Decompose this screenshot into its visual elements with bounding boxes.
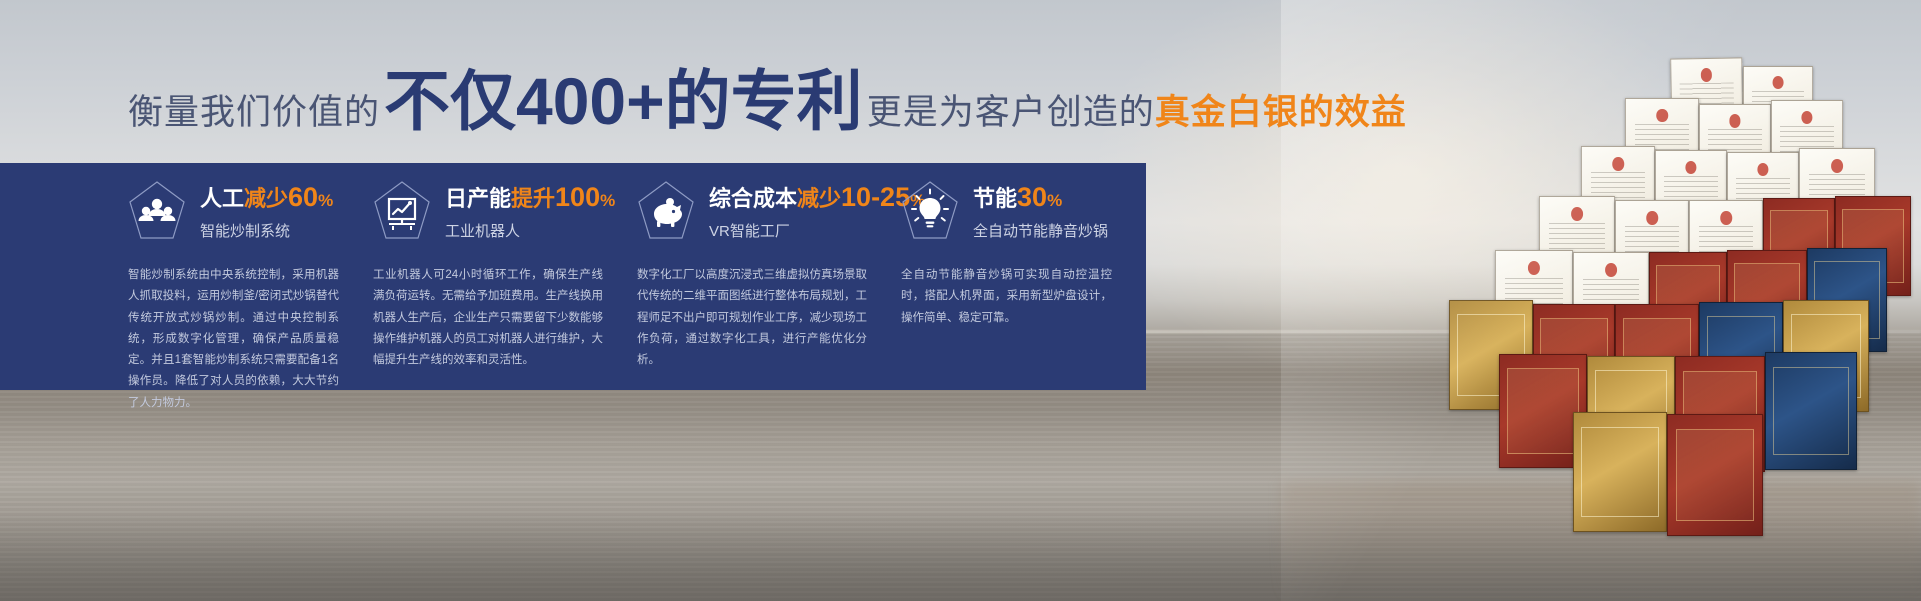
feature-item-energy[interactable]: 节能30% 全自动节能静音炒锅 全自动节能静音炒锅可实现自动控温控时，搭配人机界… [901, 163, 1146, 390]
feature-header: 综合成本减少10-25% VR智能工厂 [637, 163, 877, 259]
feature-title-block: 日产能提升100% 工业机器人 [445, 181, 615, 241]
lightbulb-icon [901, 180, 959, 242]
feature-title: 综合成本减少10-25% [709, 183, 925, 213]
feature-subtitle: VR智能工厂 [709, 220, 925, 241]
feature-description: 全自动节能静音炒锅可实现自动控温控时，搭配人机界面，采用新型炉盘设计，操作简单、… [901, 259, 1122, 329]
feature-panel: 人工减少60% 智能炒制系统 智能炒制系统由中央系统控制，采用机器人抓取投料，运… [0, 163, 1146, 390]
feature-subtitle: 工业机器人 [445, 220, 615, 241]
headline-lead: 衡量我们价值的 [128, 84, 380, 135]
feature-description: 数字化工厂以高度沉浸式三维虚拟仿真场景取代传统的二维平面图纸进行整体布局规划，工… [637, 259, 877, 371]
headline-tail: 更是为客户创造的 [867, 84, 1155, 135]
piggy-bank-icon [637, 180, 695, 242]
chart-board-icon [373, 180, 431, 242]
headline-emphasis: 不仅400+的专利 [380, 68, 867, 134]
feature-title-plain: 人工 [200, 186, 244, 211]
headline-accent: 真金白银的效益 [1155, 84, 1407, 135]
page-title: 衡量我们价值的 不仅400+的专利 更是为客户创造的 真金白银的效益 [128, 68, 1407, 135]
feature-title-block: 综合成本减少10-25% VR智能工厂 [709, 181, 925, 241]
feature-subtitle: 全自动节能静音炒锅 [973, 220, 1108, 241]
award-plaque-item [1765, 352, 1857, 470]
award-plaque-item [1573, 412, 1667, 532]
feature-header: 节能30% 全自动节能静音炒锅 [901, 163, 1122, 259]
feature-header: 人工减少60% 智能炒制系统 [128, 163, 349, 259]
feature-list: 人工减少60% 智能炒制系统 智能炒制系统由中央系统控制，采用机器人抓取投料，运… [128, 163, 1146, 390]
feature-title-plain: 日产能 [445, 186, 511, 211]
feature-title-percent: % [1047, 191, 1062, 210]
feature-title-block: 节能30% 全自动节能静音炒锅 [973, 181, 1108, 241]
feature-item-cost[interactable]: 综合成本减少10-25% VR智能工厂 数字化工厂以高度沉浸式三维虚拟仿真场景取… [637, 163, 901, 390]
feature-title-highlight: 减少 [244, 186, 288, 211]
group-people-icon [128, 180, 186, 242]
feature-title-plain: 综合成本 [709, 186, 797, 211]
feature-header: 日产能提升100% 工业机器人 [373, 163, 613, 259]
feature-title: 日产能提升100% [445, 183, 615, 213]
feature-title-number: 10-25 [841, 182, 910, 212]
feature-title: 节能30% [973, 183, 1108, 213]
feature-title-percent: % [600, 191, 615, 210]
feature-title-number: 60 [288, 182, 318, 212]
award-plaque-item [1667, 414, 1763, 536]
feature-title-number: 30 [1017, 182, 1047, 212]
feature-title-highlight: 减少 [797, 186, 841, 211]
feature-description: 智能炒制系统由中央系统控制，采用机器人抓取投料，运用炒制釜/密闭式炒锅替代传统开… [128, 259, 349, 414]
feature-item-workforce[interactable]: 人工减少60% 智能炒制系统 智能炒制系统由中央系统控制，采用机器人抓取投料，运… [128, 163, 373, 390]
feature-title-percent: % [318, 191, 333, 210]
feature-title: 人工减少60% [200, 183, 333, 213]
feature-description: 工业机器人可24小时循环工作，确保生产线满负荷运转。无需给予加班费用。生产线换用… [373, 259, 613, 371]
feature-item-capacity[interactable]: 日产能提升100% 工业机器人 工业机器人可24小时循环工作，确保生产线满负荷运… [373, 163, 637, 390]
feature-title-number: 100 [555, 182, 600, 212]
feature-title-block: 人工减少60% 智能炒制系统 [200, 181, 333, 241]
feature-title-highlight: 提升 [511, 186, 555, 211]
feature-subtitle: 智能炒制系统 [200, 220, 333, 241]
feature-title-plain: 节能 [973, 186, 1017, 211]
